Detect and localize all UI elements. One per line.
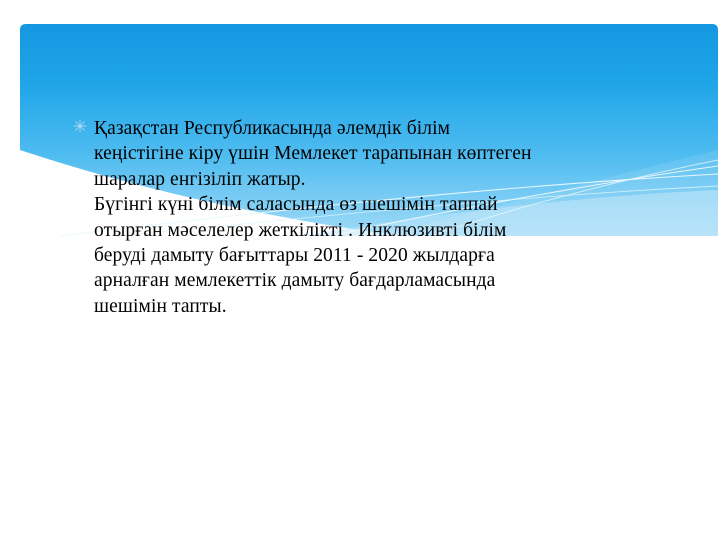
slide-canvas: Қазақстан Республикасында әлемдік білім … bbox=[0, 0, 720, 540]
asterisk-bullet-icon bbox=[72, 118, 94, 146]
body-bullet-item: Қазақстан Республикасында әлемдік білім … bbox=[72, 116, 632, 319]
body-paragraph-text: Қазақстан Республикасында әлемдік білім … bbox=[94, 116, 632, 319]
